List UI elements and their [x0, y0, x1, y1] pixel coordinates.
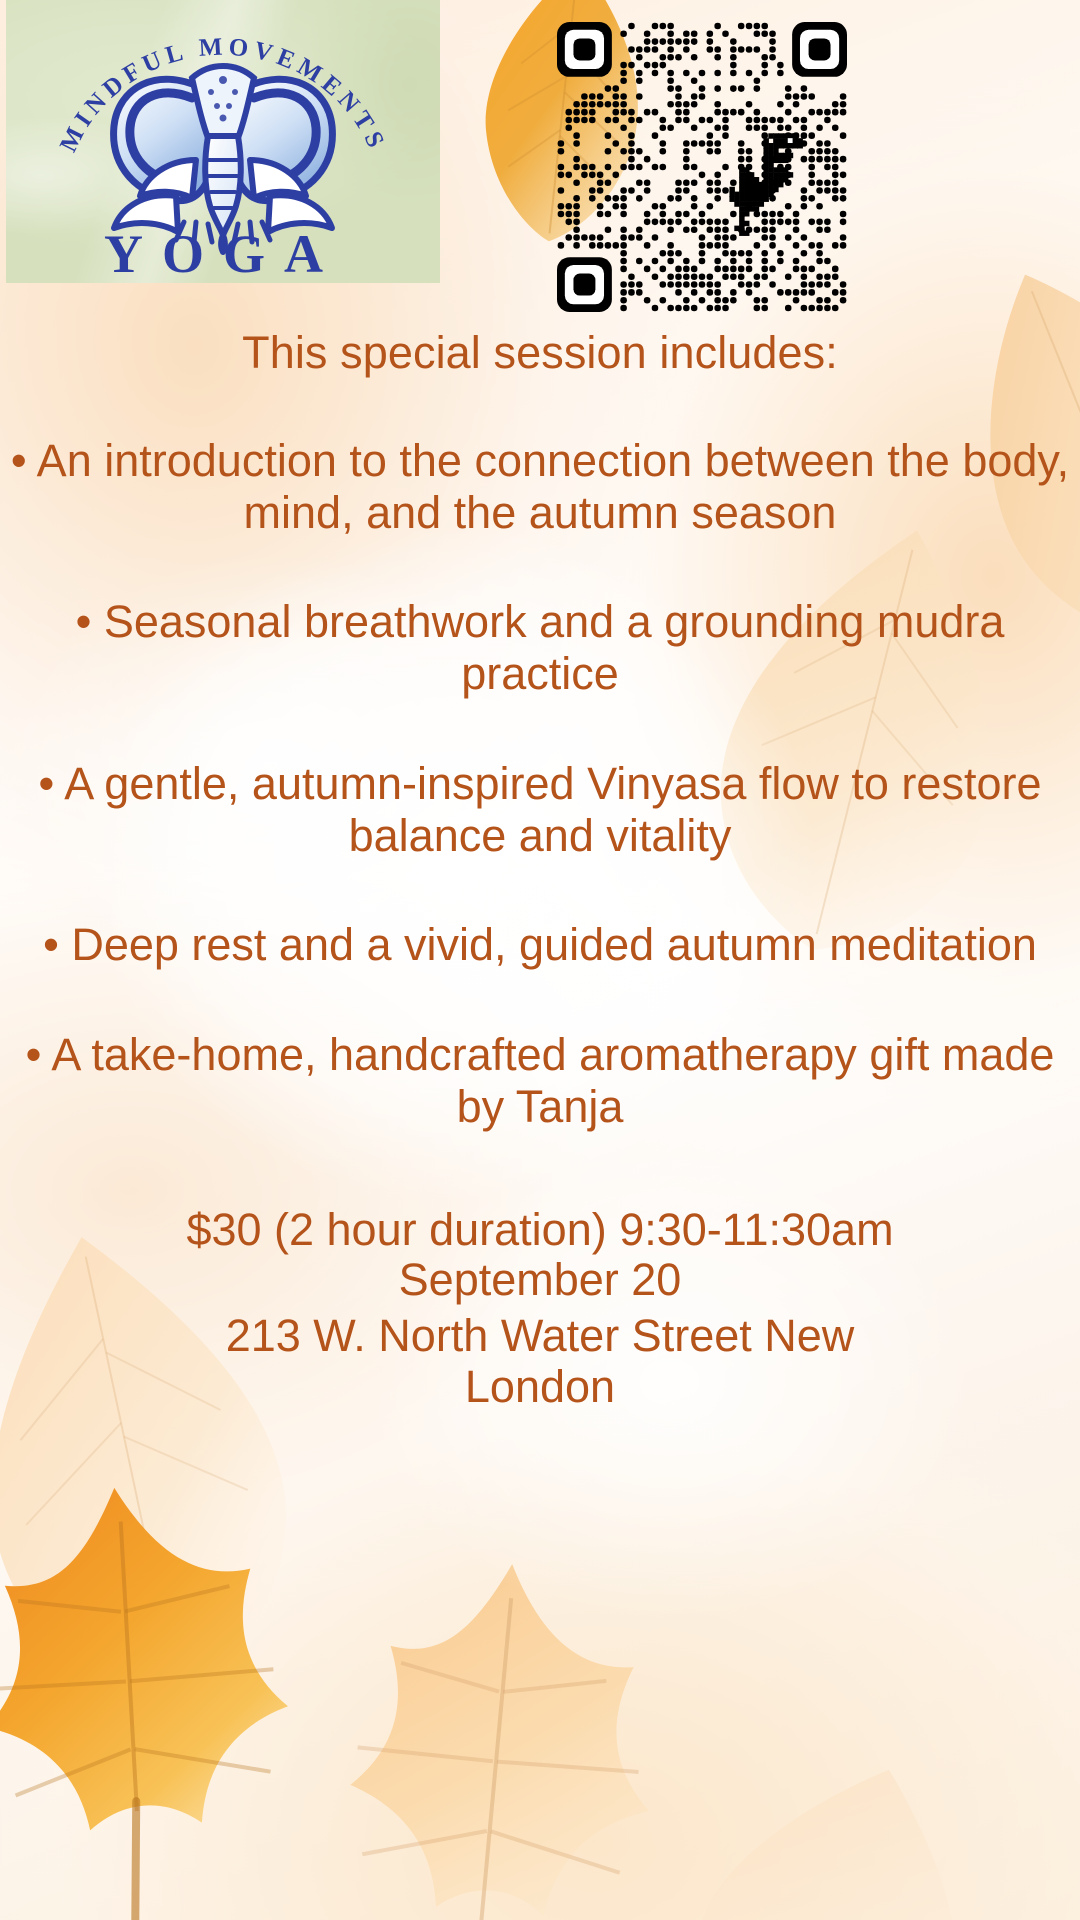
event-date: September 20 [0, 1255, 1080, 1305]
qr-code[interactable] [557, 22, 847, 319]
list-item: • Seasonal breathwork and a grounding mu… [0, 596, 1080, 700]
list-item: • An introduction to the connection betw… [0, 435, 1080, 539]
event-flyer: MINDFUL MOVEMENTS [0, 0, 1080, 1920]
price-and-time: $30 (2 hour duration) 9:30-11:30am [0, 1205, 1080, 1255]
session-includes-list: • An introduction to the connection betw… [0, 435, 1080, 1133]
list-item: • A gentle, autumn-inspired Vinyasa flow… [0, 758, 1080, 862]
list-item: • A take-home, handcrafted aromatherapy … [0, 1029, 1080, 1133]
list-item: • Deep rest and a vivid, guided autumn m… [0, 919, 1080, 971]
event-details: $30 (2 hour duration) 9:30-11:30am Septe… [0, 1205, 1080, 1413]
address-line-1: 213 W. North Water Street New [0, 1311, 1080, 1361]
address-line-2: London [0, 1362, 1080, 1412]
flyer-content: This special session includes: • An intr… [0, 330, 1080, 1412]
logo-wordmark: YOGA [104, 224, 342, 283]
elephant-mandala-icon: MINDFUL MOVEMENTS [6, 0, 440, 283]
page-title: This special session includes: [0, 330, 1080, 377]
studio-logo: MINDFUL MOVEMENTS [6, 0, 440, 283]
